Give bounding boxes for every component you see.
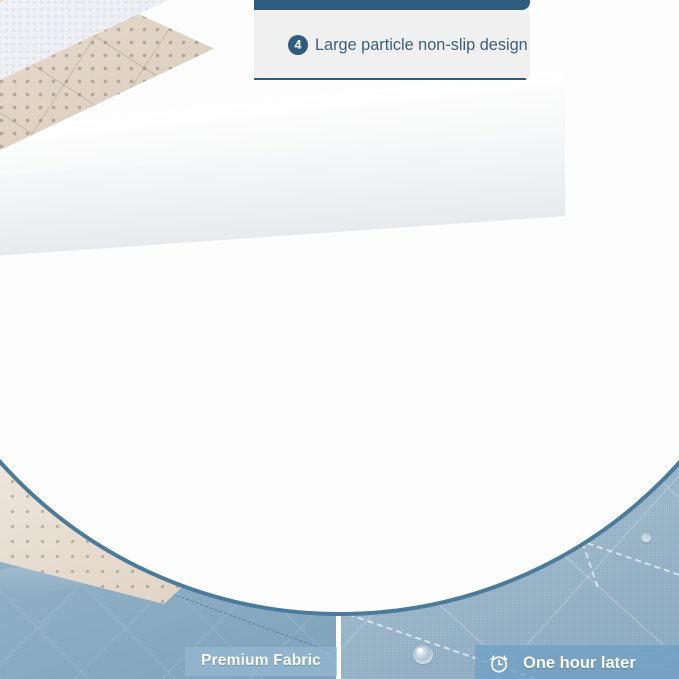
layer2-tpu-membrane-sheet	[0, 0, 248, 10]
top-panel-content-clip: Durable 4-Layer 100% Waterproof 1 High q…	[0, 0, 565, 264]
infographic-canvas: Durable 4-Layer 100% Waterproof 1 High q…	[0, 0, 679, 679]
caption-label: Premium Fabric	[201, 652, 321, 669]
fiber-fuzz-texture	[0, 0, 226, 98]
caption-label: One hour later	[523, 654, 636, 673]
caption-one-hour-later: One hour later	[475, 645, 679, 679]
top-info-panel: Durable 4-Layer 100% Waterproof 1 High q…	[0, 0, 679, 616]
caption-premium-fabric: Premium Fabric	[185, 647, 337, 676]
feature-band-3[interactable]: 3 Soft & comfortable Textiles Fiber Fill…	[254, 0, 530, 10]
layer3-fiber-filling-sheet	[0, 0, 226, 98]
feature-number-badge: 4	[288, 35, 308, 55]
feature-list: 1 High quality Microfiber fabric 2 100% …	[254, 0, 530, 80]
alarm-clock-icon	[487, 651, 511, 675]
feature-band-4[interactable]: 4 Large particle non-slip design	[254, 10, 530, 80]
panel-background: Durable 4-Layer 100% Waterproof 1 High q…	[0, 0, 565, 264]
water-droplet	[641, 533, 651, 542]
water-droplet	[413, 645, 433, 664]
exploded-layer-illustration	[0, 0, 296, 152]
sheet-surface	[0, 0, 248, 10]
feature-list-underline	[254, 78, 526, 80]
feature-label: Large particle non-slip design	[315, 36, 528, 54]
